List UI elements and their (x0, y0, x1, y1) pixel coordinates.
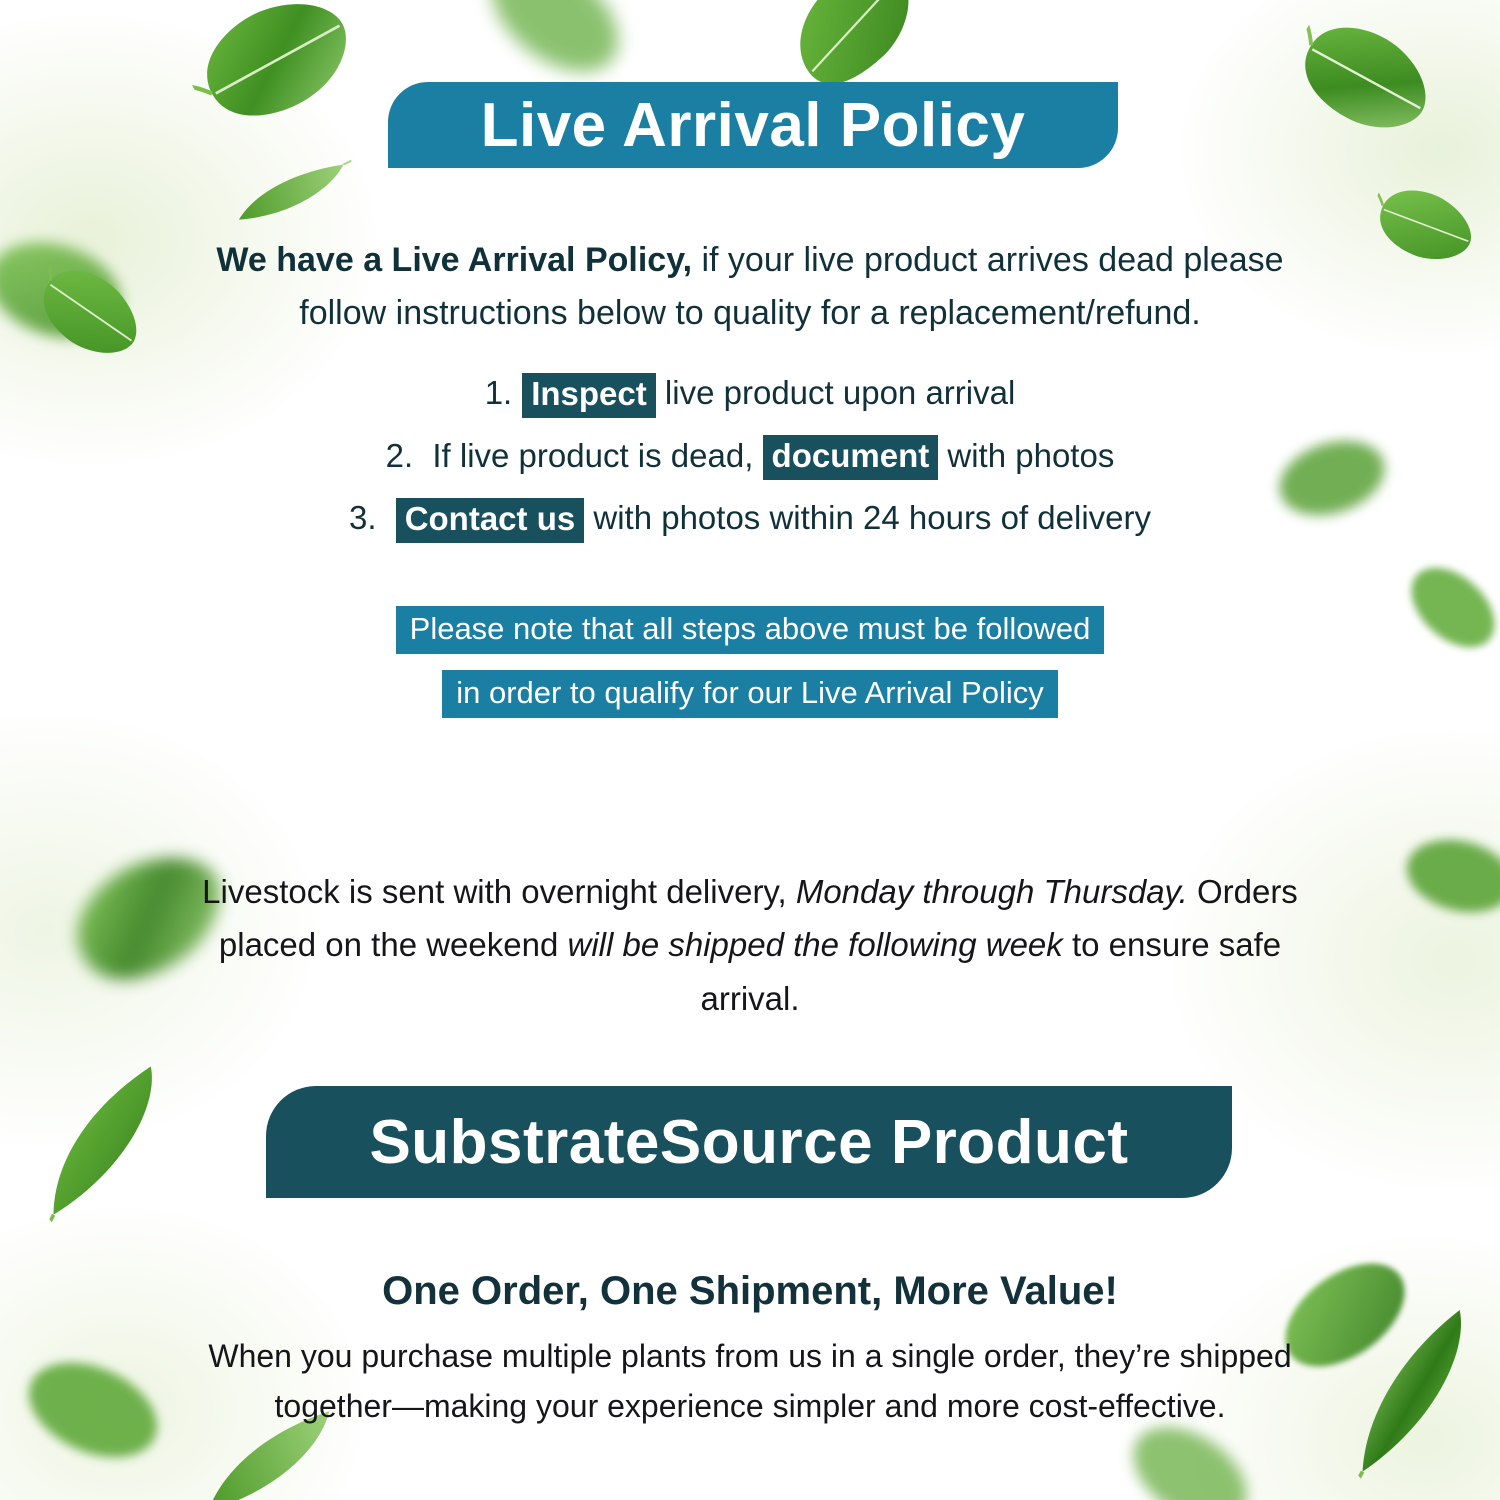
live-arrival-policy-title-banner: Live Arrival Policy (388, 82, 1118, 168)
list-item: 2. If live product is dead, document wit… (180, 425, 1320, 488)
leaf-icon (12, 236, 168, 387)
leaf-icon (1357, 163, 1493, 288)
step-text-after: live product upon arrival (656, 374, 1016, 411)
leaf-icon (1270, 0, 1460, 167)
list-item: 1.Inspect live product upon arrival (180, 362, 1320, 425)
livestock-italic-2: will be shipped the following week (568, 926, 1063, 963)
live-arrival-policy-infographic: Live Arrival Policy We have a Live Arriv… (0, 0, 1500, 1500)
title-banner-label: Live Arrival Policy (481, 90, 1026, 161)
livestock-shipping-paragraph: Livestock is sent with overnight deliver… (190, 865, 1310, 1025)
leaf-icon (167, 0, 383, 162)
list-item: 3. Contact us with photos within 24 hour… (180, 487, 1320, 550)
intro-paragraph: We have a Live Arrival Policy, if your l… (180, 234, 1320, 339)
leaf-icon (0, 210, 145, 370)
note-line-1: Please note that all steps above must be… (396, 606, 1105, 654)
leaf-icon (221, 145, 364, 244)
step-highlight-inspect: Inspect (522, 373, 656, 418)
step-highlight-contact-us: Contact us (396, 498, 585, 543)
leaf-icon (0, 1325, 186, 1496)
step-number: 1. (485, 374, 513, 411)
step-number: 2. (386, 437, 414, 474)
step-text-after: with photos within 24 hours of delivery (584, 499, 1151, 536)
note-line-2: in order to qualify for our Live Arrival… (442, 670, 1058, 718)
substratesource-product-banner: SubstrateSource Product (266, 1086, 1232, 1198)
step-text-before (387, 499, 396, 536)
product-banner-label: SubstrateSource Product (369, 1107, 1128, 1178)
step-text-before: If live product is dead, (423, 437, 762, 474)
step-highlight-document: document (763, 435, 939, 480)
step-number: 3. (349, 499, 377, 536)
livestock-italic-1: Monday through Thursday. (796, 873, 1188, 910)
value-body-paragraph: When you purchase multiple plants from u… (170, 1332, 1330, 1431)
steps-list: 1.Inspect live product upon arrival 2. I… (180, 362, 1320, 550)
leaf-icon (1390, 813, 1500, 939)
step-text-after: with photos (938, 437, 1114, 474)
leaf-icon (0, 1036, 215, 1249)
leaf-icon (1380, 535, 1500, 679)
value-heading: One Order, One Shipment, More Value! (190, 1269, 1310, 1314)
intro-bold-lead: We have a Live Arrival Policy, (216, 241, 692, 279)
policy-note-block: Please note that all steps above must be… (180, 606, 1320, 734)
livestock-part-1: Livestock is sent with overnight deliver… (202, 873, 796, 910)
